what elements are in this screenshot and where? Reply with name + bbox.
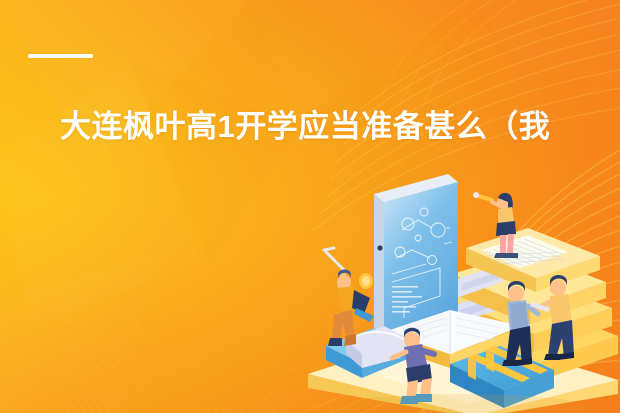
coin-icon [359,273,373,289]
title-accent-rule [28,54,93,58]
isometric-education-illustration [300,168,620,413]
illustration-svg [300,168,620,413]
page-title: 大连枫叶高1开学应当准备甚么（我 [60,106,600,148]
banner-card: 大连枫叶高1开学应当准备甚么（我 [0,0,620,413]
